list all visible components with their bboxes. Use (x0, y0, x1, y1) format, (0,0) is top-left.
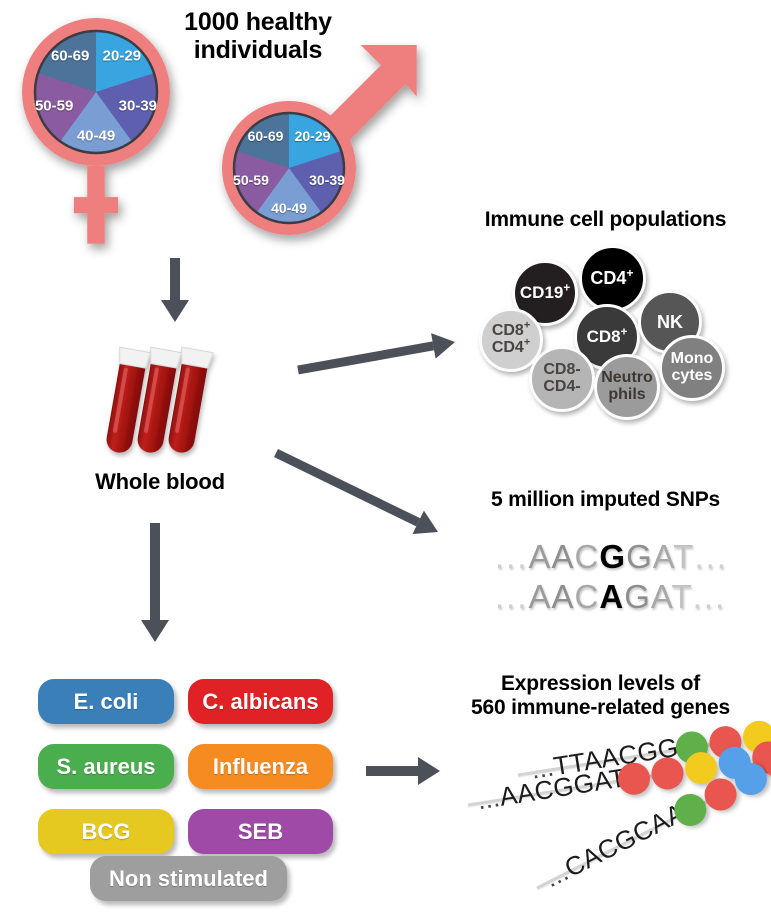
immune-populations-title: Immune cell populations (440, 208, 771, 232)
immune-cell-label: NK (657, 313, 683, 332)
immune-cell-label: CD4+ (590, 269, 633, 288)
arrow-down-cohort-to-blood (145, 228, 205, 352)
male-gender-symbol: 20-2930-3940-4950-5960-69 (205, 60, 420, 255)
snps-title: 5 million imputed SNPs (440, 488, 771, 512)
stimulus-non-stimulated[interactable]: Non stimulated (90, 856, 287, 901)
pie-label-30-39: 30-39 (309, 172, 345, 188)
whole-blood-label: Whole blood (60, 470, 260, 495)
pie-label-60-69: 60-69 (248, 128, 284, 144)
study-design-figure: 1000 healthy individualsImmune cell popu… (0, 0, 771, 922)
expression-bead-e8564f (649, 755, 686, 792)
stimulus-influenza[interactable]: Influenza (188, 744, 333, 789)
pie-label-20-29: 20-29 (103, 48, 141, 65)
immune-cell-cd8-cd4: CD8-CD4- (529, 346, 595, 412)
arrow-blood-to-snps (246, 423, 468, 562)
blood-tubes (95, 340, 275, 470)
immune-cell-cd4: CD4+ (579, 245, 646, 312)
pie-label-20-29: 20-29 (295, 128, 331, 144)
pie-label-40-49: 40-49 (77, 128, 115, 145)
pie-label-40-49: 40-49 (271, 200, 307, 216)
immune-cell-label: Monocytes (671, 351, 714, 384)
pie-label-50-59: 50-59 (233, 172, 269, 188)
immune-cell-neutrophils: Neutrophils (594, 354, 660, 420)
stimulus-label: Non stimulated (109, 866, 268, 892)
snp-sequence-row-1: ...AACGGAT... (495, 538, 728, 576)
arrow-down-blood-to-stimuli (125, 493, 185, 672)
pie-label-30-39: 30-39 (119, 97, 157, 114)
snp-sequence-row-2: ...AACAGAT... (495, 578, 726, 616)
stimulus-s-aureus[interactable]: S. aureus (38, 744, 174, 789)
arrow-stimuli-to-expression (336, 741, 470, 801)
stimulus-label: C. albicans (202, 689, 318, 715)
stimulus-bcg[interactable]: BCG (38, 809, 174, 854)
stimulus-seb[interactable]: SEB (188, 809, 333, 854)
stimulus-c-albicans[interactable]: C. albicans (188, 679, 333, 724)
stimulus-label: BCG (82, 819, 131, 845)
pie-label-50-59: 50-59 (35, 97, 73, 114)
female-gender-symbol: 20-2930-3940-4950-5960-69 (8, 10, 198, 245)
immune-cell-label: CD19+ (520, 284, 570, 302)
stimulus-label: S. aureus (56, 754, 155, 780)
stimulus-e-coli[interactable]: E. coli (38, 679, 174, 724)
arrow-blood-to-immune-cells (268, 312, 485, 400)
stimulus-label: E. coli (74, 689, 139, 715)
immune-cell-monocytes: Monocytes (659, 335, 725, 401)
immune-cell-label: CD8+ (587, 328, 628, 346)
immune-cell-label: Neutrophils (601, 370, 653, 403)
pie-label-60-69: 60-69 (51, 48, 89, 65)
expression-title: Expression levels of 560 immune-related … (430, 672, 771, 719)
strand-sequence-text: ...CACGCAA (540, 797, 691, 894)
immune-cell-label: CD8+CD4+ (492, 323, 530, 356)
immune-cell-label: CD8-CD4- (543, 362, 580, 395)
stimulus-label: SEB (238, 819, 283, 845)
stimulus-label: Influenza (213, 754, 308, 780)
